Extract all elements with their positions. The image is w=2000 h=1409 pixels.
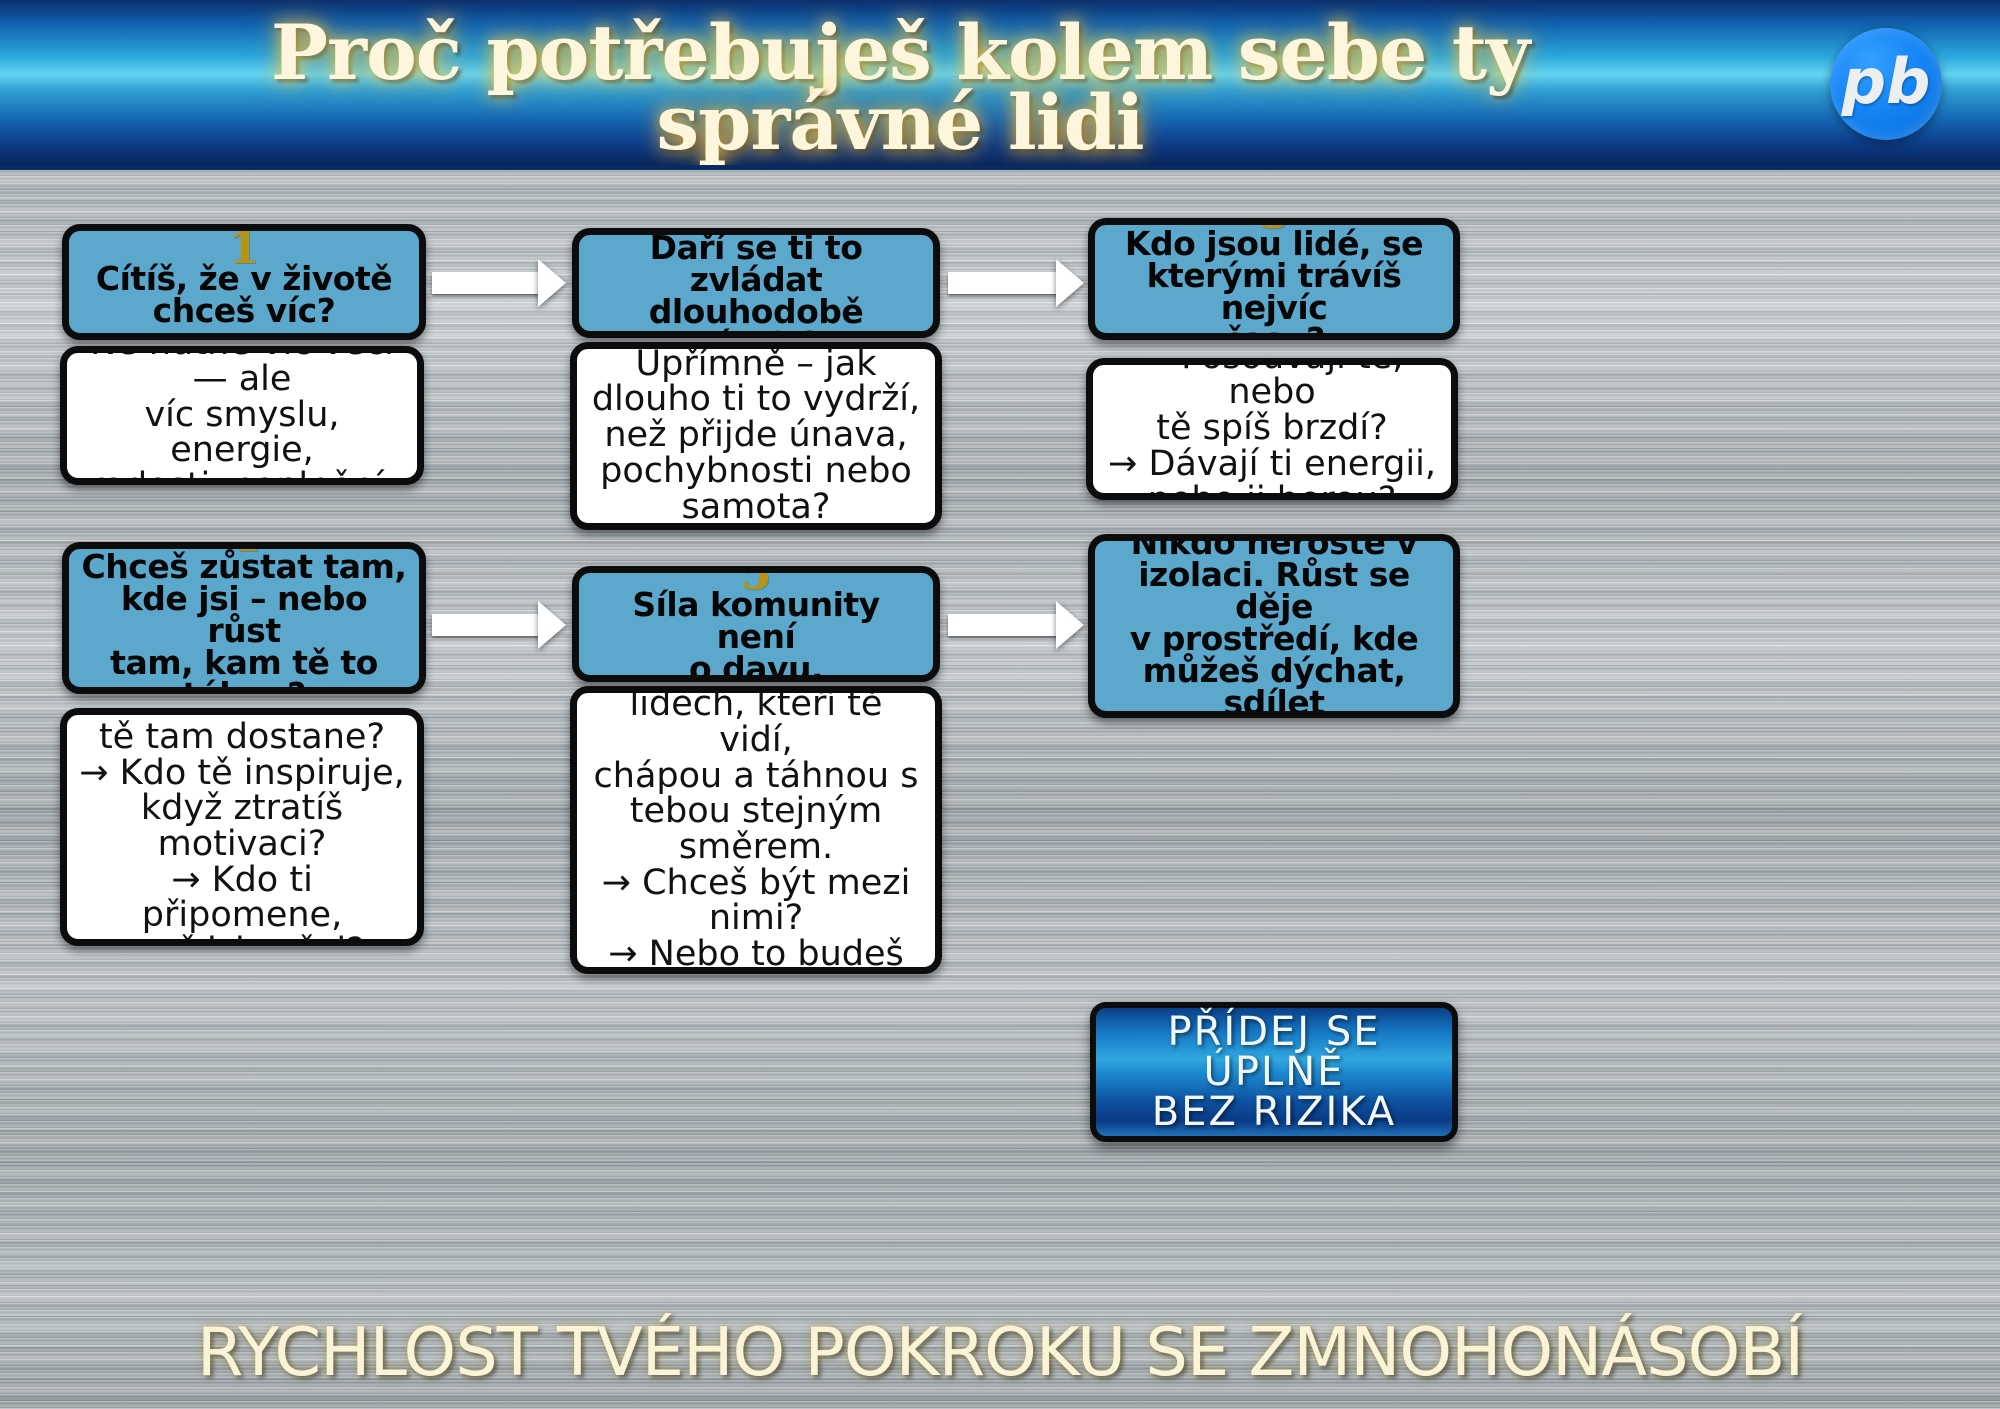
step-5-detail: Je o pár správných lidech, kteří tě vidí… <box>589 686 923 974</box>
step-1-heading: Cítíš, že v životě chceš víc? <box>96 263 392 327</box>
arrow-step4-to-step5 <box>432 614 540 636</box>
step-5-detail-card: Je o pár správných lidech, kteří tě vidí… <box>570 686 942 974</box>
step-6-header-card: 6 Nikdo neroste v izolaci. Růst se děje … <box>1088 534 1460 718</box>
brand-logo: pb <box>1830 28 1942 140</box>
step-3-detail-card: → Posouvají tě, nebo tě spíš brzdí? → Dá… <box>1086 358 1458 500</box>
step-5-heading: Síla komunity není o davu. <box>589 589 923 682</box>
step-5-header-card: 5 Síla komunity není o davu. <box>572 566 940 682</box>
page-title: Proč potřebuješ kolem sebe ty správné li… <box>70 18 1730 158</box>
brand-logo-text: pb <box>1842 51 1931 113</box>
arrow-step1-to-step2 <box>432 272 540 294</box>
header-banner: Proč potřebuješ kolem sebe ty správné li… <box>0 0 2000 170</box>
slide-canvas: Proč potřebuješ kolem sebe ty správné li… <box>0 0 2000 1409</box>
step-4-header-card: 4 Chceš zůstat tam, kde jsi – nebo růst … <box>62 542 426 694</box>
step-2-heading: Daří se ti to zvládat dlouhodobě sám/a? <box>589 232 923 338</box>
step-1-detail: Ne nutně víc věcí — ale víc smyslu, ener… <box>79 346 405 485</box>
step-2-detail: Upřímně – jak dlouho ti to vydrží, než p… <box>592 347 920 525</box>
step-2-header-card: 2 Daří se ti to zvládat dlouhodobě sám/a… <box>572 228 940 338</box>
step-4-detail-card: → Pokud růst: Kdo tě tam dostane? → Kdo … <box>60 708 424 946</box>
step-4-heading: Chceš zůstat tam, kde jsi – nebo růst ta… <box>79 551 409 694</box>
step-2-number: 2 <box>741 228 772 234</box>
footer-tagline: RYCHLOST TVÉHO POKROKU SE ZMNOHONÁSOBÍ <box>0 1313 2000 1391</box>
step-1-header-card: 1 Cítíš, že v životě chceš víc? <box>62 224 426 340</box>
step-6-heading: Nikdo neroste v izolaci. Růst se děje v … <box>1105 534 1443 718</box>
join-now-button-label: PŘÍDEJ SE ÚPLNĚ BEZ RIZIKA <box>1096 1012 1452 1132</box>
step-2-detail-card: Upřímně – jak dlouho ti to vydrží, než p… <box>570 342 942 530</box>
step-1-detail-card: Ne nutně víc věcí — ale víc smyslu, ener… <box>60 346 424 485</box>
arrow-step5-to-step6 <box>948 614 1058 636</box>
step-3-heading: Kdo jsou lidé, se kterými trávíš nejvíc … <box>1105 228 1443 340</box>
arrow-step2-to-step3 <box>948 272 1058 294</box>
step-3-header-card: 3 Kdo jsou lidé, se kterými trávíš nejví… <box>1088 218 1460 340</box>
join-now-button[interactable]: PŘÍDEJ SE ÚPLNĚ BEZ RIZIKA <box>1090 1002 1458 1142</box>
step-4-detail: → Pokud růst: Kdo tě tam dostane? → Kdo … <box>79 708 405 946</box>
step-3-detail: → Posouvají tě, nebo tě spíš brzdí? → Dá… <box>1105 358 1439 500</box>
